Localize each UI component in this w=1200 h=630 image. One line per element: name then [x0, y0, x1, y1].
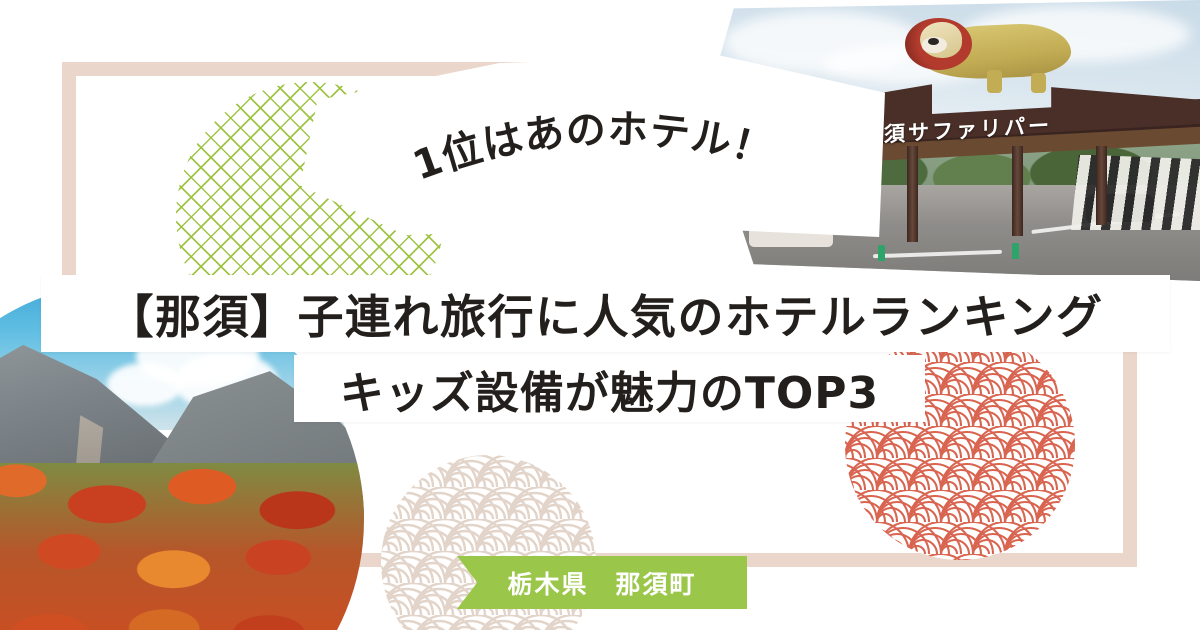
lion-statue-leg — [1031, 73, 1046, 93]
lion-statue-leg — [987, 70, 1002, 92]
catchphrase-arch: 1位はあのホテル！ — [300, 52, 885, 237]
zebra-stripe-canopy — [1071, 155, 1200, 231]
location-ribbon-label: 栃木県 那須町 — [507, 565, 696, 601]
page-title-line1: 【那須】子連れ旅行に人気のホテルランキング — [107, 281, 1103, 347]
gate-post — [1012, 146, 1023, 236]
location-ribbon: 栃木県 那須町 — [457, 556, 747, 609]
catchphrase-text: 1位はあのホテル！ — [407, 107, 778, 190]
location-ribbon-inner: 栃木県 那須町 — [457, 556, 747, 609]
page-title-line2: キッズ設備が魅力のTOP3 — [340, 357, 879, 421]
title-band-line2: キッズ設備が魅力のTOP3 — [294, 355, 925, 422]
lion-statue-nose — [928, 38, 939, 45]
gate-post — [907, 146, 918, 242]
gate-post — [1096, 146, 1107, 225]
thumbnail-canvas: 生の王国 那須サファリパー — [0, 0, 1200, 630]
title-band-line1: 【那須】子連れ旅行に人気のホテルランキング — [41, 275, 1170, 352]
traffic-cone — [878, 245, 885, 261]
autumn-foliage — [0, 463, 364, 630]
traffic-cone — [1012, 243, 1019, 259]
